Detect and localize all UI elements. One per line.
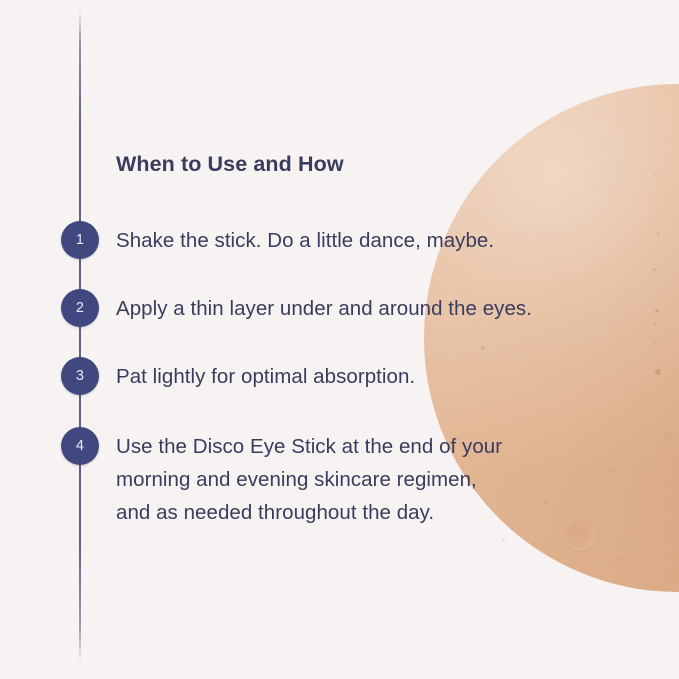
step-number-badge: 4 (61, 427, 99, 465)
steps-list: 1 Shake the stick. Do a little dance, ma… (0, 0, 679, 679)
step-number-label: 3 (76, 369, 84, 384)
step-number-badge: 3 (61, 357, 99, 395)
step-number-label: 2 (76, 301, 84, 316)
step-text: Shake the stick. Do a little dance, mayb… (116, 224, 672, 257)
step-number-label: 1 (76, 233, 84, 248)
step-text: Pat lightly for optimal absorption. (116, 360, 672, 393)
step-number-badge: 2 (61, 289, 99, 327)
step-text: Use the Disco Eye Stick at the end of yo… (116, 430, 672, 529)
step-number-label: 4 (76, 439, 84, 454)
step-text: Apply a thin layer under and around the … (116, 292, 672, 325)
step-number-badge: 1 (61, 221, 99, 259)
instruction-card: When to Use and How 1 Shake the stick. D… (0, 0, 679, 679)
